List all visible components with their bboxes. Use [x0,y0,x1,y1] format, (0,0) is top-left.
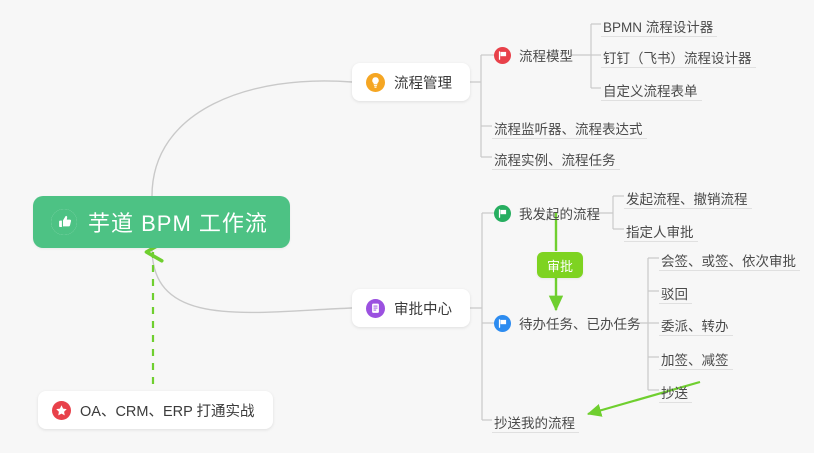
star-icon [52,401,71,420]
node-bpmn-designer[interactable]: BPMN 流程设计器 [601,11,717,37]
root-node[interactable]: 芋道 BPM 工作流 [33,196,290,248]
node-label-delegate-transfer: 委派、转办 [661,320,729,334]
node-label-carbon-copy: 抄送 [661,387,688,401]
flag-icon [494,47,511,64]
node-label-add-remove-sign: 加签、减签 [661,354,729,368]
mindmap-canvas: 芋道 BPM 工作流 流程管理 流程模型 BPMN 流程设计器 钉钉（飞书）流程 [0,0,814,453]
branch-label-process-management: 流程管理 [394,72,452,93]
flag-icon [494,205,511,222]
annotation-tag-approval-label: 审批 [547,256,573,275]
node-process-model[interactable]: 流程模型 [494,42,573,68]
node-start-cancel-process[interactable]: 发起流程、撤销流程 [624,183,752,209]
node-custom-process-form[interactable]: 自定义流程表单 [601,75,702,101]
node-label-todo-done-task: 待办任务、已办任务 [519,313,641,333]
node-countersign-orsign-sequential[interactable]: 会签、或签、依次审批 [659,245,800,271]
node-label-start-cancel-process: 发起流程、撤销流程 [626,193,748,207]
node-carbon-copy[interactable]: 抄送 [659,377,692,403]
node-reject[interactable]: 驳回 [659,278,692,304]
thumbs-up-icon [51,209,77,235]
branch-node-approval-center[interactable]: 审批中心 [352,289,470,327]
node-dingtalk-feishu-designer[interactable]: 钉钉（飞书）流程设计器 [601,42,756,68]
flag-icon [494,315,511,332]
node-label-dingtalk-feishu-designer: 钉钉（飞书）流程设计器 [603,52,752,66]
node-my-initiated-process[interactable]: 我发起的流程 [494,200,600,226]
node-assignee-approval[interactable]: 指定人审批 [624,216,698,242]
node-process-listener-expression[interactable]: 流程监听器、流程表达式 [492,113,647,139]
node-label-countersign-orsign-sequential: 会签、或签、依次审批 [661,255,796,269]
node-label-bpmn-designer: BPMN 流程设计器 [603,21,713,35]
note-label-integration: OA、CRM、ERP 打通实战 [80,400,255,421]
node-label-my-initiated-process: 我发起的流程 [519,203,600,223]
node-label-process-listener-expression: 流程监听器、流程表达式 [494,123,643,137]
connector-root-to-approval-center [152,248,352,312]
annotation-tag-approval[interactable]: 审批 [537,252,583,278]
node-label-cc-to-me-process: 抄送我的流程 [494,417,575,431]
lightbulb-icon [366,73,385,92]
branch-label-approval-center: 审批中心 [394,298,452,319]
branch-node-process-management[interactable]: 流程管理 [352,63,470,101]
connector-root-to-process-management [152,81,352,196]
node-label-assignee-approval: 指定人审批 [626,226,694,240]
node-label-process-instance-task: 流程实例、流程任务 [494,154,616,168]
node-label-custom-process-form: 自定义流程表单 [603,85,698,99]
node-delegate-transfer[interactable]: 委派、转办 [659,310,733,336]
node-cc-to-me-process[interactable]: 抄送我的流程 [492,407,579,433]
note-node-integration[interactable]: OA、CRM、ERP 打通实战 [38,391,273,429]
node-process-instance-task[interactable]: 流程实例、流程任务 [492,144,620,170]
node-todo-done-task[interactable]: 待办任务、已办任务 [494,310,641,336]
node-label-process-model: 流程模型 [519,45,573,65]
clipboard-icon [366,299,385,318]
root-label: 芋道 BPM 工作流 [88,206,268,238]
node-label-reject: 驳回 [661,288,688,302]
node-add-remove-sign[interactable]: 加签、减签 [659,344,733,370]
